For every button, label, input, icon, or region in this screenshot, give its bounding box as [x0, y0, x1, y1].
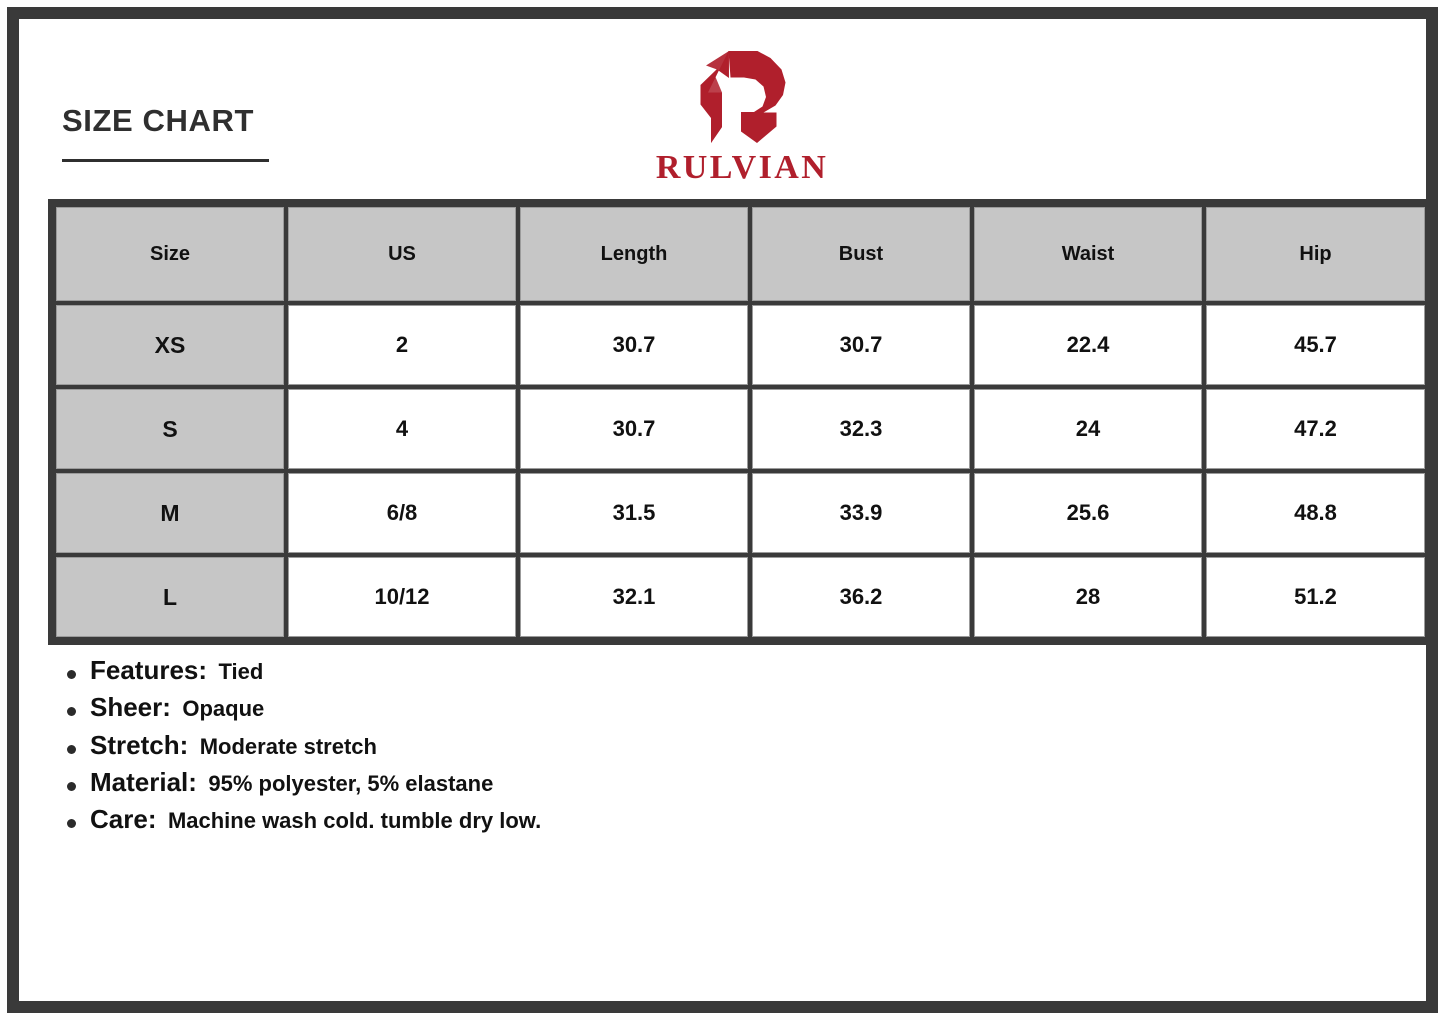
table-row: XS 2 30.7 30.7 22.4 45.7: [56, 305, 1425, 385]
spec-value: Moderate stretch: [200, 734, 377, 759]
cell-size: XS: [56, 305, 284, 385]
cell-us: 6/8: [288, 473, 516, 553]
page-title: SIZE CHART: [62, 105, 269, 136]
cell-us: 4: [288, 389, 516, 469]
spec-label: Material:: [90, 767, 197, 797]
column-header-length: Length: [520, 207, 748, 301]
bullet-icon: [67, 707, 76, 716]
spec-label: Care:: [90, 804, 156, 834]
header: SIZE CHART RULVIAN: [19, 19, 1426, 191]
brand-name: RULVIAN: [632, 151, 852, 185]
cell-length: 31.5: [520, 473, 748, 553]
cell-waist: 25.6: [974, 473, 1202, 553]
product-spec-list: Features: Tied Sheer: Opaque Stretch: Mo…: [62, 657, 1262, 843]
spec-value: Tied: [219, 659, 264, 684]
cell-waist: 24: [974, 389, 1202, 469]
bullet-icon: [67, 819, 76, 828]
list-item: Features: Tied: [62, 657, 1262, 684]
cell-length: 30.7: [520, 305, 748, 385]
bullet-icon: [67, 745, 76, 754]
column-header-hip: Hip: [1206, 207, 1425, 301]
list-item: Material: 95% polyester, 5% elastane: [62, 769, 1262, 796]
cell-hip: 45.7: [1206, 305, 1425, 385]
cell-us: 10/12: [288, 557, 516, 637]
cell-bust: 32.3: [752, 389, 970, 469]
cell-size: L: [56, 557, 284, 637]
cell-hip: 47.2: [1206, 389, 1425, 469]
cell-us: 2: [288, 305, 516, 385]
cell-bust: 36.2: [752, 557, 970, 637]
spec-label: Features:: [90, 655, 207, 685]
table-header-row: Size US Length Bust Waist Hip: [56, 207, 1425, 301]
table-row: L 10/12 32.1 36.2 28 51.2: [56, 557, 1425, 637]
column-header-us: US: [288, 207, 516, 301]
page-content: SIZE CHART RULVIAN: [19, 19, 1426, 1001]
size-chart-page: SIZE CHART RULVIAN: [0, 0, 1445, 1020]
list-item: Stretch: Moderate stretch: [62, 732, 1262, 759]
bullet-icon: [67, 670, 76, 679]
spec-value: 95% polyester, 5% elastane: [208, 771, 493, 796]
list-item: Sheer: Opaque: [62, 694, 1262, 721]
table-row: M 6/8 31.5 33.9 25.6 48.8: [56, 473, 1425, 553]
rulvian-r-monogram-icon: [684, 49, 800, 145]
title-block: SIZE CHART: [62, 105, 269, 162]
cell-bust: 30.7: [752, 305, 970, 385]
table-row: S 4 30.7 32.3 24 47.2: [56, 389, 1425, 469]
size-chart-table: Size US Length Bust Waist Hip XS 2 30.7 …: [48, 199, 1433, 645]
cell-size: M: [56, 473, 284, 553]
column-header-waist: Waist: [974, 207, 1202, 301]
cell-size: S: [56, 389, 284, 469]
spec-value: Machine wash cold. tumble dry low.: [168, 808, 541, 833]
spec-value: Opaque: [182, 696, 264, 721]
cell-bust: 33.9: [752, 473, 970, 553]
bullet-icon: [67, 782, 76, 791]
cell-hip: 51.2: [1206, 557, 1425, 637]
page-border-frame: SIZE CHART RULVIAN: [7, 7, 1438, 1013]
brand-logo: RULVIAN: [632, 49, 852, 185]
column-header-size: Size: [56, 207, 284, 301]
spec-label: Sheer:: [90, 692, 171, 722]
cell-length: 32.1: [520, 557, 748, 637]
column-header-bust: Bust: [752, 207, 970, 301]
title-underline-rule: [62, 159, 269, 162]
cell-waist: 22.4: [974, 305, 1202, 385]
cell-waist: 28: [974, 557, 1202, 637]
cell-length: 30.7: [520, 389, 748, 469]
cell-hip: 48.8: [1206, 473, 1425, 553]
list-item: Care: Machine wash cold. tumble dry low.: [62, 806, 1262, 833]
spec-label: Stretch:: [90, 730, 188, 760]
